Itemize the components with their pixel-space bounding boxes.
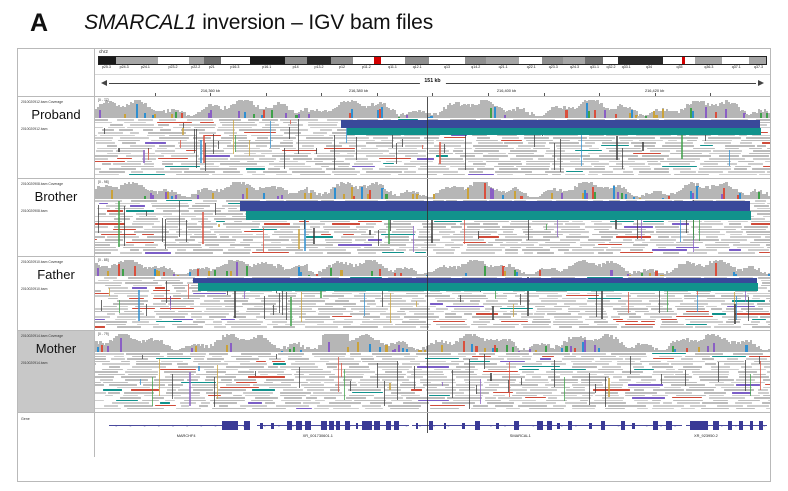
alignment-read xyxy=(558,249,568,251)
alignment-read xyxy=(209,247,235,249)
alignment-read xyxy=(114,293,139,295)
alignment-read xyxy=(594,223,621,225)
alignment-read xyxy=(167,247,201,249)
sample-track-mother[interactable]: 2010020914.bam CoverageMother2010020914.… xyxy=(18,331,770,413)
ideogram-bands[interactable] xyxy=(98,56,767,65)
gene-exon xyxy=(305,421,310,430)
alignment-read xyxy=(602,174,633,176)
alignment-read xyxy=(564,303,587,305)
track-data-column[interactable]: [0 - 85] xyxy=(95,257,770,330)
alignment-read xyxy=(411,389,422,390)
alignment-read xyxy=(117,387,150,389)
alignment-read xyxy=(229,135,247,137)
alignment-read xyxy=(318,308,347,310)
genome-ruler[interactable]: 151 kb 216,360 kb216,380 kb216,400 kb216… xyxy=(95,75,770,96)
alignment-read xyxy=(653,358,674,359)
variant-column xyxy=(341,363,342,377)
alignment-read xyxy=(187,226,213,228)
alignment-read xyxy=(620,140,633,142)
alignment-read xyxy=(176,408,201,410)
variant-column xyxy=(478,231,479,239)
alignment-read xyxy=(216,397,245,399)
alignment-read xyxy=(332,171,360,173)
alignment-read xyxy=(474,150,500,152)
alignment-read xyxy=(159,316,185,318)
alignment-read xyxy=(236,313,260,315)
gene-exon xyxy=(653,421,657,430)
coverage-allele-marker xyxy=(768,274,770,276)
chromosome-ideogram-panel[interactable]: chr2 p25.3p24.3p24.1p23.2p22.2p21p16.3p1… xyxy=(95,49,770,75)
alignment-read xyxy=(383,326,416,328)
alignment-read xyxy=(637,231,654,233)
alignment-read xyxy=(561,229,585,231)
variant-column xyxy=(189,372,190,406)
gene-exon xyxy=(429,421,433,430)
alignment-read xyxy=(427,171,457,173)
alignment-read xyxy=(117,158,132,159)
alignment-read xyxy=(95,122,112,124)
alignment-read xyxy=(283,140,292,142)
gene-track-name-column: Gene xyxy=(18,413,95,457)
alignment-read xyxy=(338,166,348,168)
alignment-read xyxy=(721,303,755,305)
alignment-read xyxy=(733,244,759,246)
alignment-read xyxy=(220,163,257,165)
alignment-read xyxy=(407,371,443,373)
alignment-read xyxy=(758,306,770,308)
alignment-read xyxy=(272,361,285,362)
alignment-read xyxy=(519,382,548,384)
alignment-read xyxy=(498,356,520,358)
alignment-read xyxy=(262,127,298,129)
alignment-read xyxy=(652,400,661,402)
alignment-read xyxy=(372,353,409,355)
track-name-column[interactable]: 2010020910.bam CoverageFather2010020910.… xyxy=(18,257,95,330)
gene-strand-arrow-icon: > xyxy=(172,424,174,428)
alignment-read xyxy=(412,298,424,300)
gene-track-data-column[interactable]: >>>>>>>>>>>>>>>>>>>>>>>>>>>>>>>>>>>>>>>>… xyxy=(95,413,770,457)
alignment-read xyxy=(572,366,597,368)
coverage-histogram[interactable] xyxy=(95,331,770,352)
alignment-read xyxy=(727,358,738,360)
alignment-read xyxy=(589,148,599,150)
gene-strand-arrow-icon: > xyxy=(200,424,202,428)
alignment-read xyxy=(136,363,172,365)
alignment-read xyxy=(641,379,657,381)
alignment-read xyxy=(176,290,187,292)
alignment-read xyxy=(472,316,510,318)
alignment-read xyxy=(460,155,475,157)
alignment-read xyxy=(609,242,634,244)
alignment-read xyxy=(274,231,293,233)
alignment-read xyxy=(582,395,593,397)
alignment-read xyxy=(579,326,617,328)
alignment-read xyxy=(127,161,152,163)
alignment-read xyxy=(145,252,171,254)
alignment-read xyxy=(119,306,128,308)
alignment-read xyxy=(97,208,109,210)
alignment-read xyxy=(505,249,518,251)
alignment-read xyxy=(403,402,429,404)
alignment-read xyxy=(653,389,683,391)
alignment-read xyxy=(430,405,465,406)
alignment-read xyxy=(440,158,463,160)
track-name-column[interactable]: 2010020914.bam CoverageMother2010020914.… xyxy=(18,331,95,412)
alignment-read xyxy=(754,361,770,363)
alignment-read xyxy=(253,384,291,386)
alignment-read xyxy=(155,287,165,288)
alignment-read xyxy=(327,366,337,368)
alignment-read xyxy=(658,247,667,249)
alignment-read xyxy=(721,387,752,389)
alignment-read xyxy=(267,324,278,326)
alignment-read xyxy=(95,361,110,363)
variant-column xyxy=(595,384,596,393)
alignment-read xyxy=(354,163,373,165)
alignment-read xyxy=(382,358,415,360)
alignment-read xyxy=(166,223,198,225)
ruler-tick-label: 216,420 kb xyxy=(645,88,664,93)
alignment-read xyxy=(719,174,757,176)
alignment-read xyxy=(397,311,405,313)
alignment-read xyxy=(597,324,619,326)
gene-exon xyxy=(336,421,340,430)
alignment-read xyxy=(320,129,332,131)
alignment-read xyxy=(492,311,506,313)
alignment-read xyxy=(108,287,128,289)
variant-column xyxy=(344,369,345,400)
alignment-read xyxy=(495,295,507,297)
alignment-read xyxy=(155,405,176,406)
variant-column xyxy=(718,362,719,382)
coverage-histogram[interactable] xyxy=(95,257,770,276)
alignment-read xyxy=(229,166,265,168)
alignment-read xyxy=(747,405,769,407)
coverage-histogram[interactable] xyxy=(95,97,770,118)
alignment-read xyxy=(365,408,382,410)
alignment-read xyxy=(193,389,214,391)
alignment-read xyxy=(726,321,740,323)
cytoband-label: p25.3 xyxy=(102,65,111,69)
alignment-read xyxy=(227,321,263,323)
alignment-read xyxy=(622,371,643,373)
alignment-read xyxy=(655,226,678,228)
alignment-read xyxy=(654,168,669,170)
alignment-read xyxy=(366,171,402,173)
cytoband xyxy=(603,57,617,64)
alignment-read xyxy=(625,358,641,360)
alignment-read xyxy=(516,392,551,394)
alignment-read xyxy=(193,293,227,295)
alignment-read xyxy=(454,148,472,150)
alignment-read xyxy=(500,244,534,246)
alignment-read xyxy=(578,313,607,315)
alignment-read xyxy=(749,153,770,155)
alignment-read xyxy=(379,229,388,231)
alignment-read xyxy=(362,168,373,170)
variant-column xyxy=(170,296,171,310)
alignment-read xyxy=(589,316,608,318)
variant-column xyxy=(249,140,250,156)
variant-column xyxy=(166,281,167,303)
alignment-read xyxy=(439,231,455,233)
center-guide-line xyxy=(427,257,428,330)
gene-strand-arrow-icon: > xyxy=(763,424,765,428)
cytoband xyxy=(749,57,766,64)
alignment-read xyxy=(310,382,321,384)
alignment-read xyxy=(109,168,136,170)
alignment-read xyxy=(223,171,240,173)
alignment-read xyxy=(216,221,225,222)
alignment-read xyxy=(172,324,198,326)
alignment-read xyxy=(633,168,651,170)
alignment-read xyxy=(715,242,740,244)
alignment-read xyxy=(368,239,381,241)
alignment-read xyxy=(547,295,563,297)
variant-column xyxy=(480,379,481,404)
alignment-read xyxy=(332,223,360,224)
alignment-read xyxy=(204,166,219,168)
alignment-read xyxy=(506,242,518,244)
alignment-read xyxy=(675,306,704,308)
alignment-read xyxy=(411,300,426,302)
gene-exon xyxy=(329,421,333,430)
gene-annotations[interactable]: >>>>>>>>>>>>>>>>>>>>>>>>>>>>>>>>>>>>>>>>… xyxy=(95,413,770,457)
alignment-read xyxy=(662,321,677,323)
alignment-read xyxy=(321,234,331,235)
alignment-read xyxy=(425,358,459,359)
alignment-read xyxy=(370,402,392,404)
alignment-read xyxy=(289,168,322,170)
alignment-read xyxy=(176,174,209,176)
variant-column xyxy=(484,354,485,369)
alignment-read xyxy=(757,213,770,215)
coverage-histogram[interactable] xyxy=(95,179,770,199)
alignment-read xyxy=(512,395,536,397)
alignment-read xyxy=(621,326,654,328)
alignment-read xyxy=(375,298,402,300)
alignment-read xyxy=(126,155,164,157)
alignment-read xyxy=(220,122,255,124)
variant-column xyxy=(697,295,698,312)
alignment-read xyxy=(127,127,163,129)
alignment-read xyxy=(128,277,154,279)
alignment-read xyxy=(458,295,486,297)
alignment-read xyxy=(226,366,264,368)
alignment-read xyxy=(478,142,503,144)
alignment-read xyxy=(566,295,599,296)
track-data-column[interactable]: [0 - 79] xyxy=(95,331,770,412)
alignment-read xyxy=(669,163,690,165)
cytoband-label: q37.3 xyxy=(754,65,763,69)
track-data-column[interactable]: [0 - 77] xyxy=(95,97,770,178)
alignment-read xyxy=(430,408,459,410)
gene-track-row[interactable]: Gene >>>>>>>>>>>>>>>>>>>>>>>>>>>>>>>>>>>… xyxy=(18,413,770,457)
alignment-read xyxy=(677,402,700,404)
cytoband-label: p16.3 xyxy=(230,65,239,69)
alignment-read xyxy=(288,358,309,360)
alignment-read xyxy=(304,231,329,233)
alignment-read xyxy=(109,384,137,386)
alignment-read xyxy=(117,119,134,121)
alignment-read xyxy=(343,234,354,235)
alignment-read xyxy=(635,239,645,241)
cytoband-label: q14.2 xyxy=(471,65,480,69)
alignment-read xyxy=(283,389,303,391)
coverage-track-label: 2010020912.bam Coverage xyxy=(21,100,63,104)
alignment-read xyxy=(203,200,217,202)
alignment-read xyxy=(510,158,533,160)
alignment-read xyxy=(95,168,101,170)
alignment-read xyxy=(306,397,317,399)
alignment-read xyxy=(562,358,594,360)
alignment-read xyxy=(111,358,125,360)
alignment-read xyxy=(752,319,766,320)
alignment-read xyxy=(634,145,656,147)
alignment-read xyxy=(433,249,455,251)
alignment-read xyxy=(153,326,165,328)
alignment-read xyxy=(653,371,683,373)
alignment-read xyxy=(212,356,222,358)
alignment-read xyxy=(238,371,254,373)
sample-track-brother[interactable]: 2010020908.bam CoverageBrother2010020908… xyxy=(18,179,770,257)
alignment-read xyxy=(451,371,474,373)
alignment-read xyxy=(516,166,550,168)
alignment-read xyxy=(467,244,493,246)
alignment-read xyxy=(124,122,146,124)
alignment-read xyxy=(240,405,266,407)
alignment-read xyxy=(434,145,461,147)
alignment-read xyxy=(191,218,208,220)
alignment-read xyxy=(509,400,536,402)
alignment-read xyxy=(127,408,164,410)
alignment-read xyxy=(222,124,256,126)
alignment-read xyxy=(752,326,770,328)
gene-exon xyxy=(475,421,481,430)
alignment-read xyxy=(726,231,743,233)
alignment-read xyxy=(660,161,696,163)
alignment-read xyxy=(746,137,771,139)
alignment-read xyxy=(439,319,468,321)
alignment-read xyxy=(246,168,265,169)
alignment-read xyxy=(659,356,682,358)
alignment-read xyxy=(347,153,384,155)
alignment-read xyxy=(526,140,553,142)
alignment-read xyxy=(611,353,646,355)
alignment-read xyxy=(405,145,424,147)
alignment-read xyxy=(285,324,304,326)
gene-strand-arrow-icon: > xyxy=(735,424,737,428)
alignment-read xyxy=(676,247,699,249)
alignment-read xyxy=(526,161,563,163)
alignment-read xyxy=(637,295,675,297)
alignment-read xyxy=(591,163,609,165)
alignment-read xyxy=(522,387,549,389)
alignment-read xyxy=(256,361,266,362)
alignment-read xyxy=(296,371,331,373)
variant-column xyxy=(452,370,453,399)
alignment-read xyxy=(419,234,450,236)
alignment-read xyxy=(192,205,210,207)
alignment-read xyxy=(709,395,724,397)
alignment-read xyxy=(730,234,742,236)
alignment-read xyxy=(281,382,308,384)
sample-track-father[interactable]: 2010020910.bam CoverageFather2010020910.… xyxy=(18,257,770,331)
alignment-read xyxy=(148,132,186,134)
alignment-read xyxy=(95,140,112,142)
variant-column xyxy=(284,148,285,169)
alignment-read xyxy=(95,316,110,318)
alignment-read xyxy=(636,382,652,384)
alignment-read xyxy=(452,293,472,295)
alignment-read xyxy=(616,236,650,237)
gene-strand-arrow-icon: > xyxy=(561,424,563,428)
alignment-read xyxy=(388,303,419,305)
variant-column xyxy=(444,144,445,154)
alignment-read xyxy=(419,231,430,233)
alignment-read xyxy=(424,137,439,139)
alignment-read xyxy=(130,249,139,251)
locus-span-label: 151 kb xyxy=(419,78,445,84)
alignment-read xyxy=(239,319,257,321)
alignment-read xyxy=(539,244,571,246)
alignment-read xyxy=(693,148,715,150)
header-data-column[interactable]: chr2 p25.3p24.3p24.1p23.2p22.2p21p16.3p1… xyxy=(95,49,770,96)
alignment-read xyxy=(293,298,329,300)
alignment-read xyxy=(637,402,660,404)
alignment-read xyxy=(396,249,406,251)
alignment-read xyxy=(541,300,576,302)
alignment-read xyxy=(476,140,499,142)
alignment-read xyxy=(329,402,362,404)
alignment-read xyxy=(120,252,142,254)
alignment-read xyxy=(713,150,743,152)
alignment-read xyxy=(117,326,141,328)
alignment-read xyxy=(722,311,743,313)
alignment-read xyxy=(204,300,220,302)
alignment-read xyxy=(130,132,139,134)
alignment-read xyxy=(130,205,144,207)
track-name-column[interactable]: 2010020908.bam CoverageBrother2010020908… xyxy=(18,179,95,256)
igv-window[interactable]: chr2 p25.3p24.3p24.1p23.2p22.2p21p16.3p1… xyxy=(17,48,771,482)
alignment-read xyxy=(668,140,676,142)
alignment-read xyxy=(264,382,274,384)
variant-column xyxy=(356,137,357,161)
variant-column xyxy=(465,130,466,171)
cytoband-label: q36.3 xyxy=(704,65,713,69)
alignment-read xyxy=(499,168,519,170)
alignment-read xyxy=(193,249,223,251)
variant-column xyxy=(276,354,277,359)
alignment-read xyxy=(251,400,273,402)
track-data-column[interactable]: [0 - 98] xyxy=(95,179,770,256)
alignment-read xyxy=(539,298,559,300)
alignment-read xyxy=(269,148,280,150)
alignment-read xyxy=(252,389,275,390)
track-name-column[interactable]: 2010020912.bam CoverageProband2010020912… xyxy=(18,97,95,178)
sample-track-proband[interactable]: 2010020912.bam CoverageProband2010020912… xyxy=(18,97,770,179)
gene-exon xyxy=(621,421,624,430)
alignment-reads[interactable] xyxy=(95,353,770,412)
alignment-read xyxy=(760,316,770,318)
alignment-read xyxy=(425,295,450,297)
alignment-read xyxy=(272,321,287,323)
alignment-read xyxy=(138,119,153,121)
alignment-read xyxy=(209,316,227,318)
alignment-read xyxy=(605,392,618,394)
alignment-read xyxy=(139,216,155,218)
alignment-read xyxy=(623,171,634,173)
